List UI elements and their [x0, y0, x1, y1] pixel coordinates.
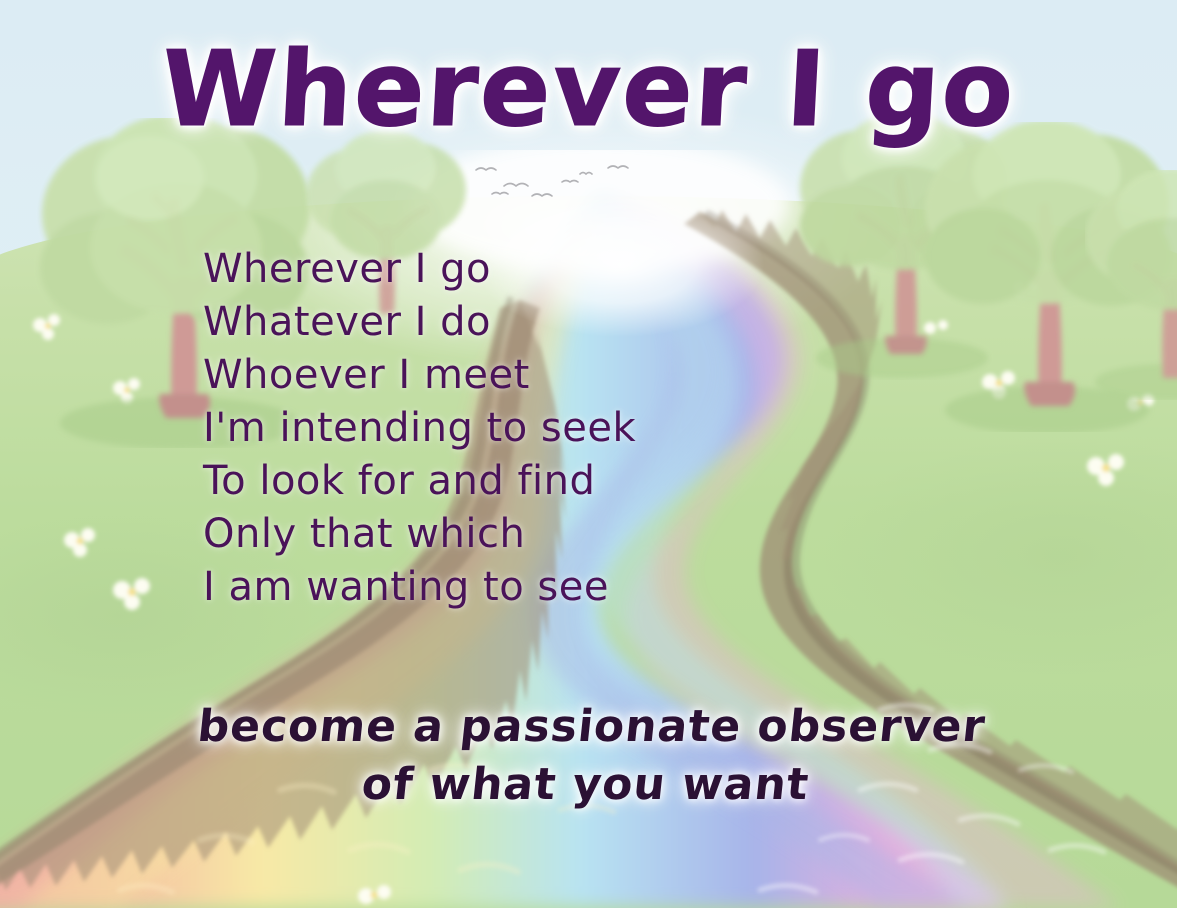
tree-far-right: [1085, 170, 1177, 400]
poem-block: Wherever I go Whatever I do Whoever I me…: [203, 243, 823, 614]
poem-line: Only that which: [203, 508, 823, 561]
poem-line: I'm intending to seek: [203, 402, 823, 455]
poem-line: Whoever I meet: [203, 349, 823, 402]
tagline-block: become a passionate observer of what you…: [0, 698, 1177, 814]
poem-line: To look for and find: [203, 455, 823, 508]
page-title: Wherever I go: [0, 28, 1177, 150]
tagline-line: of what you want: [0, 756, 1177, 814]
poster-canvas: Wherever I go Wherever I go Whatever I d…: [0, 0, 1177, 908]
birds-flock: [470, 160, 650, 215]
poem-line: Whatever I do: [203, 296, 823, 349]
tagline-line: become a passionate observer: [0, 698, 1177, 756]
poem-line: Wherever I go: [203, 243, 823, 296]
poem-line: I am wanting to see: [203, 561, 823, 614]
